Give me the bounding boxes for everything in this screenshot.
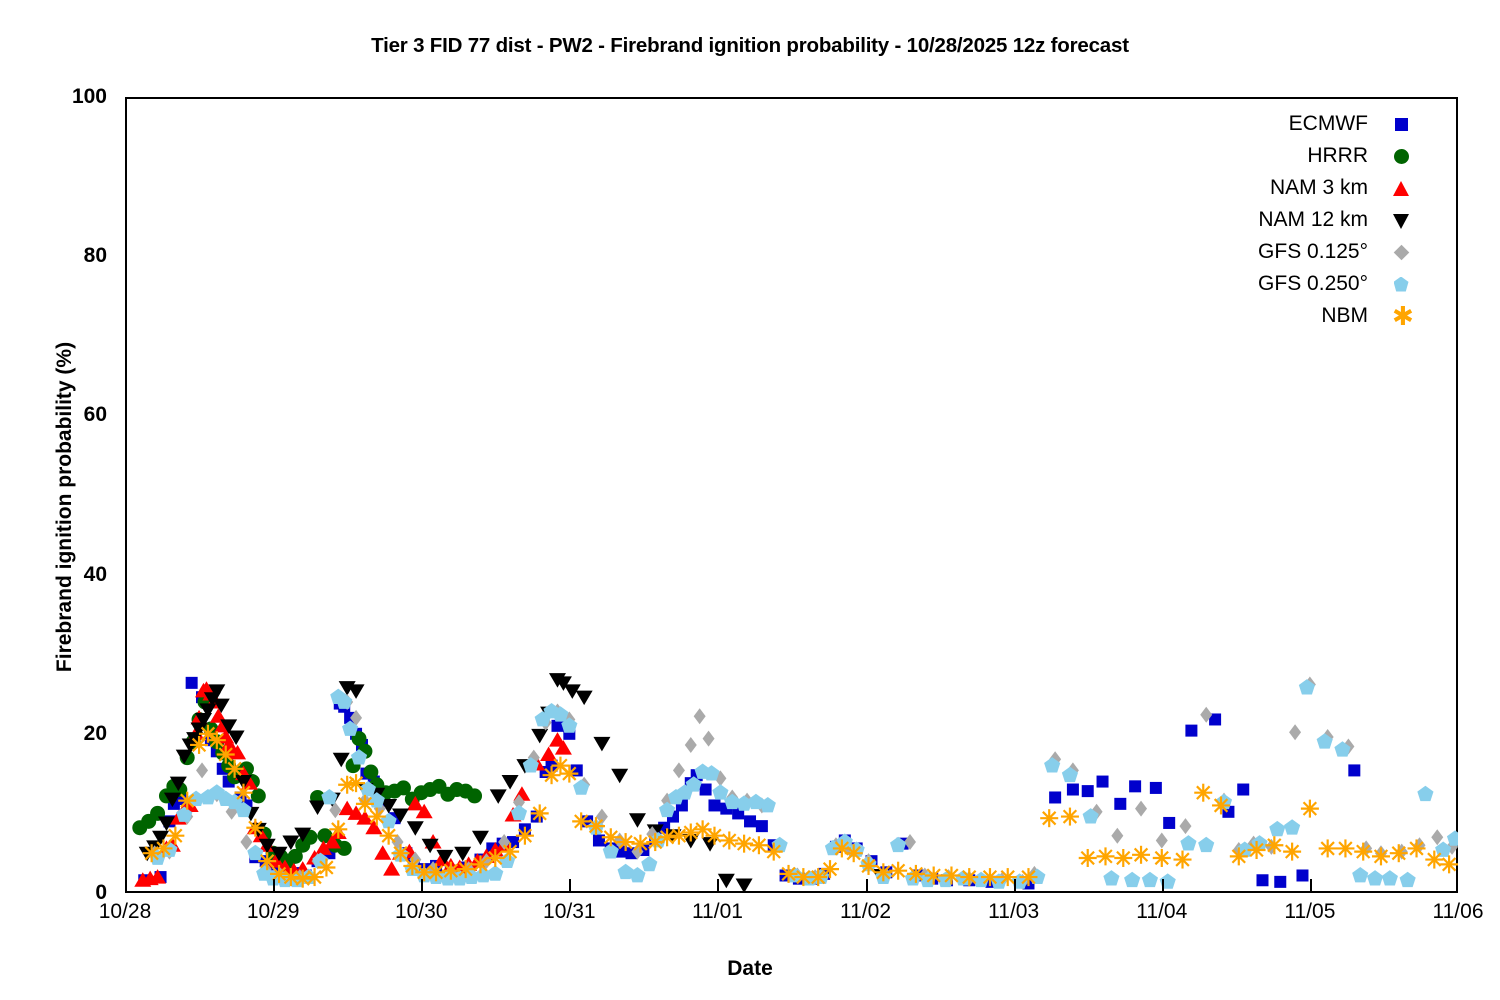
legend-item-hrrr[interactable]: HRRR (1180, 140, 1412, 172)
y-axis-tick-label: 60 (7, 403, 107, 427)
x-axis-tick-label: 10/30 (341, 900, 501, 924)
legend-item-gfs-0-250[interactable]: GFS 0.250° (1180, 268, 1412, 300)
legend-marker-glyph (1395, 118, 1408, 131)
x-axis-tick-mark (1310, 879, 1312, 893)
diamond-icon (1390, 241, 1412, 263)
triangle-up-icon (1390, 177, 1412, 199)
x-axis-tick-label: 10/28 (45, 900, 205, 924)
legend-marker-glyph (1394, 277, 1409, 292)
legend-item-label: GFS 0.125° (1258, 240, 1390, 264)
legend-item-nbm[interactable]: NBM✱ (1180, 300, 1412, 332)
x-axis-tick-label: 10/29 (193, 900, 353, 924)
legend-marker-glyph (1393, 181, 1409, 196)
chart-figure: Tier 3 FID 77 dist - PW2 - Firebrand ign… (0, 0, 1500, 1000)
x-axis-tick-label: 11/04 (1082, 900, 1242, 924)
x-axis-tick-label: 11/05 (1230, 900, 1390, 924)
chart-legend: ECMWFHRRRNAM 3 kmNAM 12 kmGFS 0.125°GFS … (1180, 108, 1412, 332)
x-axis-tick-label: 11/02 (786, 900, 946, 924)
asterisk-icon: ✱ (1390, 305, 1412, 327)
x-axis-label: Date (0, 957, 1500, 981)
y-axis-tick-label: 40 (7, 563, 107, 587)
legend-marker-glyph (1393, 244, 1409, 260)
x-axis-tick-label: 11/03 (934, 900, 1094, 924)
legend-item-nam-12-km[interactable]: NAM 12 km (1180, 204, 1412, 236)
legend-item-label: ECMWF (1289, 112, 1390, 136)
legend-marker-glyph (1393, 214, 1409, 229)
pentagon-icon (1390, 273, 1412, 295)
legend-item-nam-3-km[interactable]: NAM 3 km (1180, 172, 1412, 204)
x-axis-tick-mark (1162, 879, 1164, 893)
legend-item-label: NAM 3 km (1270, 176, 1390, 200)
x-axis-tick-mark (569, 879, 571, 893)
y-axis-tick-label: 20 (7, 722, 107, 746)
square-icon (1390, 113, 1412, 135)
x-axis-tick-mark (1014, 879, 1016, 893)
page-title: Tier 3 FID 77 dist - PW2 - Firebrand ign… (0, 34, 1500, 58)
y-axis-tick-label: 100 (7, 85, 107, 109)
x-axis-tick-mark (717, 879, 719, 893)
legend-item-ecmwf[interactable]: ECMWF (1180, 108, 1412, 140)
legend-item-label: GFS 0.250° (1258, 272, 1390, 296)
legend-item-gfs-0-125[interactable]: GFS 0.125° (1180, 236, 1412, 268)
circle-icon (1390, 145, 1412, 167)
x-axis-tick-label: 11/01 (637, 900, 797, 924)
x-axis-tick-label: 10/31 (489, 900, 649, 924)
x-axis-tick-mark (273, 879, 275, 893)
x-axis-tick-label: 11/06 (1378, 900, 1500, 924)
legend-item-label: NAM 12 km (1258, 208, 1390, 232)
y-axis-label: Firebrand ignition probability (%) (53, 257, 77, 757)
x-axis-tick-mark (421, 879, 423, 893)
y-axis-tick-label: 80 (7, 244, 107, 268)
legend-marker-glyph (1394, 149, 1409, 164)
legend-item-label: NBM (1321, 304, 1390, 328)
legend-item-label: HRRR (1307, 144, 1390, 168)
triangle-down-icon (1390, 209, 1412, 231)
x-axis-tick-mark (866, 879, 868, 893)
